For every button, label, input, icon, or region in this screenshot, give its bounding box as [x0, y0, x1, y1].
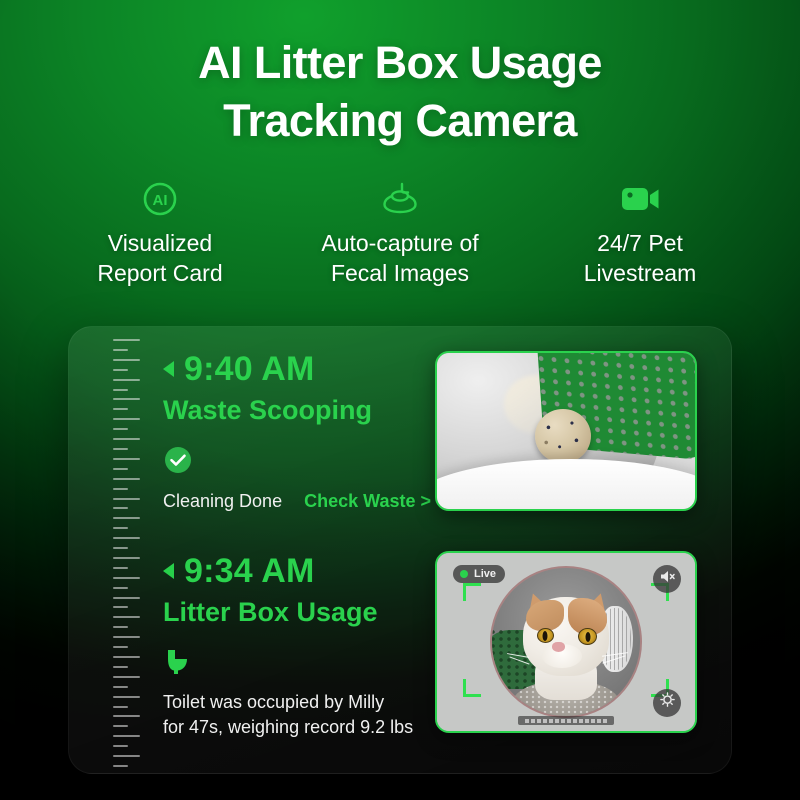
timestamp-glyph — [603, 719, 607, 723]
ruler-tick — [113, 606, 128, 608]
cat-eye-right — [578, 628, 597, 645]
ruler-tick — [113, 567, 128, 569]
status-text: Cleaning Done — [163, 488, 282, 514]
ruler-tick — [113, 408, 128, 410]
entry-title: Litter Box Usage — [163, 595, 413, 629]
feature-auto-capture-fecal-images: Auto-capture of Fecal Images — [280, 178, 520, 288]
livestream-panel[interactable]: Live — [435, 551, 697, 733]
ruler-tick — [113, 527, 128, 529]
timestamp-glyph — [561, 719, 565, 723]
ruler-tick — [113, 646, 128, 648]
ruler-tick — [113, 765, 128, 767]
poop-icon — [280, 178, 520, 220]
title-line-1: AI Litter Box Usage — [0, 34, 800, 92]
light-bulb-icon — [659, 692, 676, 714]
ruler-tick — [113, 755, 140, 757]
timestamp-glyph — [579, 719, 583, 723]
live-camera-feed: Live — [437, 553, 695, 731]
ruler-tick — [113, 626, 128, 628]
cat-head — [523, 597, 609, 676]
triangle-left-icon — [163, 361, 174, 377]
ruler-tick — [113, 587, 128, 589]
ruler-tick — [113, 438, 140, 440]
feature-visualized-report-card: AI Visualized Report Card — [40, 178, 280, 288]
live-badge-label: Live — [474, 568, 496, 580]
ruler-tick — [113, 398, 140, 400]
note-line-2: for 47s, weighing record 9.2 lbs — [163, 715, 413, 740]
ruler-tick — [113, 577, 140, 579]
light-button[interactable] — [653, 689, 681, 717]
ruler-tick — [113, 666, 128, 668]
ruler-scale — [113, 339, 143, 767]
page-title: AI Litter Box Usage Tracking Camera — [0, 34, 800, 150]
ruler-tick — [113, 488, 128, 490]
ruler-tick — [113, 597, 140, 599]
ruler-tick — [113, 349, 128, 351]
ruler-tick — [113, 537, 140, 539]
entry-time: 9:40 AM — [184, 349, 315, 389]
entry-time-row: 9:34 AM — [163, 551, 413, 591]
ruler-tick — [113, 616, 140, 618]
toilet-icon — [163, 646, 413, 678]
detection-bracket-bottom-left — [463, 679, 481, 697]
cat-eye-left — [537, 628, 554, 643]
feature-label-line-1: Auto-capture of — [280, 228, 520, 258]
ruler-tick — [113, 656, 140, 658]
check-circle-icon — [163, 444, 431, 476]
ruler-tick — [113, 339, 140, 341]
timestamp-glyph — [573, 719, 577, 723]
timestamp-glyph — [591, 719, 595, 723]
feature-label-line-1: 24/7 Pet — [520, 228, 760, 258]
timestamp-glyph — [525, 719, 529, 723]
ruler-tick — [113, 498, 140, 500]
ruler-tick — [113, 369, 128, 371]
ruler-tick — [113, 517, 140, 519]
mute-button[interactable] — [653, 565, 681, 593]
timestamp-glyph — [555, 719, 559, 723]
timeline-entry-waste-scooping[interactable]: 9:40 AM Waste Scooping Cleaning Done Che… — [163, 349, 431, 514]
timeline-entry-litter-box-usage[interactable]: 9:34 AM Litter Box Usage Toilet was occu… — [163, 551, 413, 740]
ruler-tick — [113, 478, 140, 480]
litter-box-photo — [437, 353, 695, 509]
status-badge: Live — [453, 565, 505, 583]
timestamp-glyph — [567, 719, 571, 723]
title-line-2: Tracking Camera — [0, 92, 800, 150]
triangle-left-icon — [163, 563, 174, 579]
ruler-tick — [113, 458, 140, 460]
ruler-tick — [113, 696, 140, 698]
entry-time: 9:34 AM — [184, 551, 315, 591]
ruler-tick — [113, 448, 128, 450]
feature-24-7-pet-livestream: 24/7 Pet Livestream — [520, 178, 760, 288]
cat-patch-left — [526, 600, 564, 632]
timestamp-glyph — [549, 719, 553, 723]
entry-footer: Cleaning Done Check Waste > — [163, 488, 431, 514]
ruler-tick — [113, 706, 128, 708]
timestamp-glyph — [597, 719, 601, 723]
activity-timeline-card: 9:40 AM Waste Scooping Cleaning Done Che… — [68, 326, 732, 774]
camera-timestamp — [518, 716, 614, 725]
ruler-tick — [113, 468, 128, 470]
cat-nose — [552, 642, 565, 652]
feature-label-line-1: Visualized — [40, 228, 280, 258]
promo-page: AI Litter Box Usage Tracking Camera AI V… — [0, 0, 800, 800]
ruler-tick — [113, 676, 140, 678]
speaker-muted-icon — [659, 569, 676, 589]
check-waste-link[interactable]: Check Waste > — [304, 491, 431, 512]
feature-label-line-2: Report Card — [40, 258, 280, 288]
feature-row: AI Visualized Report Card Auto-capture o… — [40, 178, 760, 288]
detection-bracket-top-left — [463, 583, 481, 601]
ruler-tick — [113, 745, 128, 747]
ruler-tick — [113, 379, 140, 381]
ruler-tick — [113, 418, 140, 420]
fisheye-camera-view — [490, 566, 642, 718]
live-dot-icon — [460, 570, 468, 578]
ai-badge-icon: AI — [40, 178, 280, 220]
waste-photo-thumbnail[interactable] — [435, 351, 697, 511]
ruler-tick — [113, 557, 140, 559]
ruler-tick — [113, 636, 140, 638]
ruler-tick — [113, 686, 128, 688]
entry-title: Waste Scooping — [163, 393, 431, 427]
timestamp-glyph — [543, 719, 547, 723]
ruler-tick — [113, 428, 128, 430]
entry-time-row: 9:40 AM — [163, 349, 431, 389]
svg-text:AI: AI — [152, 192, 167, 209]
ruler-tick — [113, 389, 128, 391]
feature-label-line-2: Fecal Images — [280, 258, 520, 288]
ruler-tick — [113, 359, 140, 361]
video-camera-icon — [520, 178, 760, 220]
note-line-1: Toilet was occupied by Milly — [163, 690, 413, 715]
feature-label-line-2: Livestream — [520, 258, 760, 288]
ruler-tick — [113, 735, 140, 737]
cat-subject — [517, 590, 615, 700]
photo-waste-clump — [535, 409, 591, 463]
timestamp-glyph — [537, 719, 541, 723]
ruler-tick — [113, 725, 128, 727]
ruler-tick — [113, 507, 128, 509]
timestamp-glyph — [585, 719, 589, 723]
ruler-tick — [113, 715, 140, 717]
timestamp-glyph — [531, 719, 535, 723]
ruler-tick — [113, 547, 128, 549]
